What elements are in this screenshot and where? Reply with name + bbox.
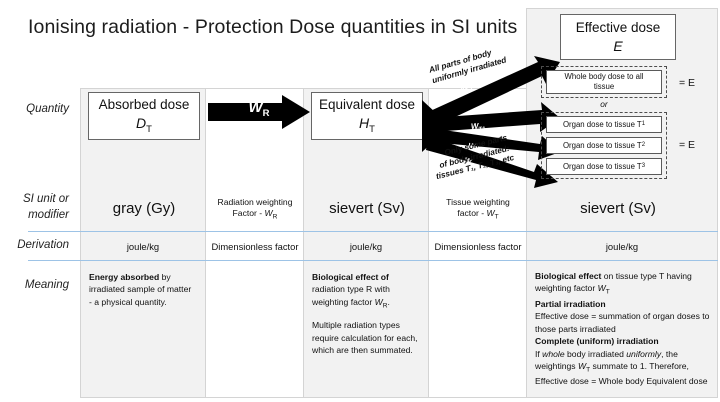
diagram-root: Ionising radiation - Protection Dose qua…	[0, 0, 720, 402]
absorbed-dose-title: Absorbed dose	[99, 96, 190, 114]
equivalent-dose-box: Equivalent dose HT	[311, 92, 423, 140]
radiation-weighting-arrow	[208, 95, 310, 129]
absorbed-dose-box: Absorbed dose DT	[88, 92, 200, 140]
divider-above-derivation	[28, 231, 718, 232]
organ-dose-box-t3: Organ dose to tissue T3	[546, 158, 662, 175]
absorbed-dose-unit: gray (Gy)	[88, 195, 200, 221]
effective-dose-symbol: E	[613, 37, 622, 55]
organ-dose-box-t2: Organ dose to tissue T2	[546, 137, 662, 154]
equivalent-dose-derivation: joule/kg	[305, 233, 427, 259]
effective-dose-box: Effective dose E	[560, 14, 676, 60]
organ-dose-box-t1: Organ dose to tissue T1	[546, 116, 662, 133]
absorbed-meaning-bold: Energy absorbed	[89, 272, 159, 282]
equiv-meaning-p2: Multiple radiation types require calcula…	[312, 319, 418, 356]
row-label-si-unit-line1: SI unit or	[23, 192, 69, 208]
wt-label-1: WT1	[471, 121, 486, 134]
whole-body-equals-E: = E	[679, 77, 695, 89]
tw-modifier-line2: factor - WT	[457, 208, 498, 223]
page-title: Ionising radiation - Protection Dose qua…	[28, 16, 517, 39]
tw-modifier-line1: Tissue weighting	[446, 197, 510, 209]
rw-modifier-line1: Radiation weighting	[217, 197, 292, 209]
rw-modifier-line2: Factor - WR	[233, 208, 278, 223]
radiation-weighting-modifier: Radiation weighting Factor - WR	[208, 196, 302, 224]
effective-dose-derivation: joule/kg	[528, 233, 716, 259]
organ-dose-equals-E: = E	[679, 139, 695, 151]
radiation-weighting-derivation: Dimensionless factor	[206, 233, 304, 259]
tissue-weighting-derivation: Dimensionless factor	[429, 233, 527, 259]
effective-dose-meaning: Biological effect on tissue type T havin…	[528, 262, 718, 394]
equiv-meaning-bold: Biological effect of	[312, 272, 389, 282]
or-separator-label: or	[541, 99, 667, 109]
row-label-meaning: Meaning	[0, 275, 78, 297]
equivalent-dose-unit: sievert (Sv)	[311, 195, 423, 221]
absorbed-dose-meaning: Energy absorbed by irradiated sample of …	[82, 263, 202, 393]
absorbed-dose-symbol: DT	[136, 114, 152, 136]
whole-body-dose-box: Whole body dose to all tissue	[546, 70, 662, 94]
divider-above-meaning	[28, 260, 718, 261]
equivalent-dose-symbol: HT	[359, 114, 375, 136]
effective-dose-unit: sievert (Sv)	[560, 195, 676, 221]
tissue-weighting-modifier: Tissue weighting factor - WT	[431, 196, 525, 224]
effective-dose-title: Effective dose	[576, 19, 661, 37]
row-label-si-unit-line2: modifier	[28, 208, 69, 224]
row-label-si-unit: SI unit or modifier	[0, 190, 78, 226]
row-label-derivation: Derivation	[0, 232, 78, 260]
row-label-quantity: Quantity	[0, 95, 78, 125]
equivalent-dose-meaning: Biological effect of radiation type R wi…	[305, 263, 425, 393]
absorbed-dose-derivation: joule/kg	[82, 233, 204, 259]
equivalent-dose-title: Equivalent dose	[319, 96, 415, 114]
